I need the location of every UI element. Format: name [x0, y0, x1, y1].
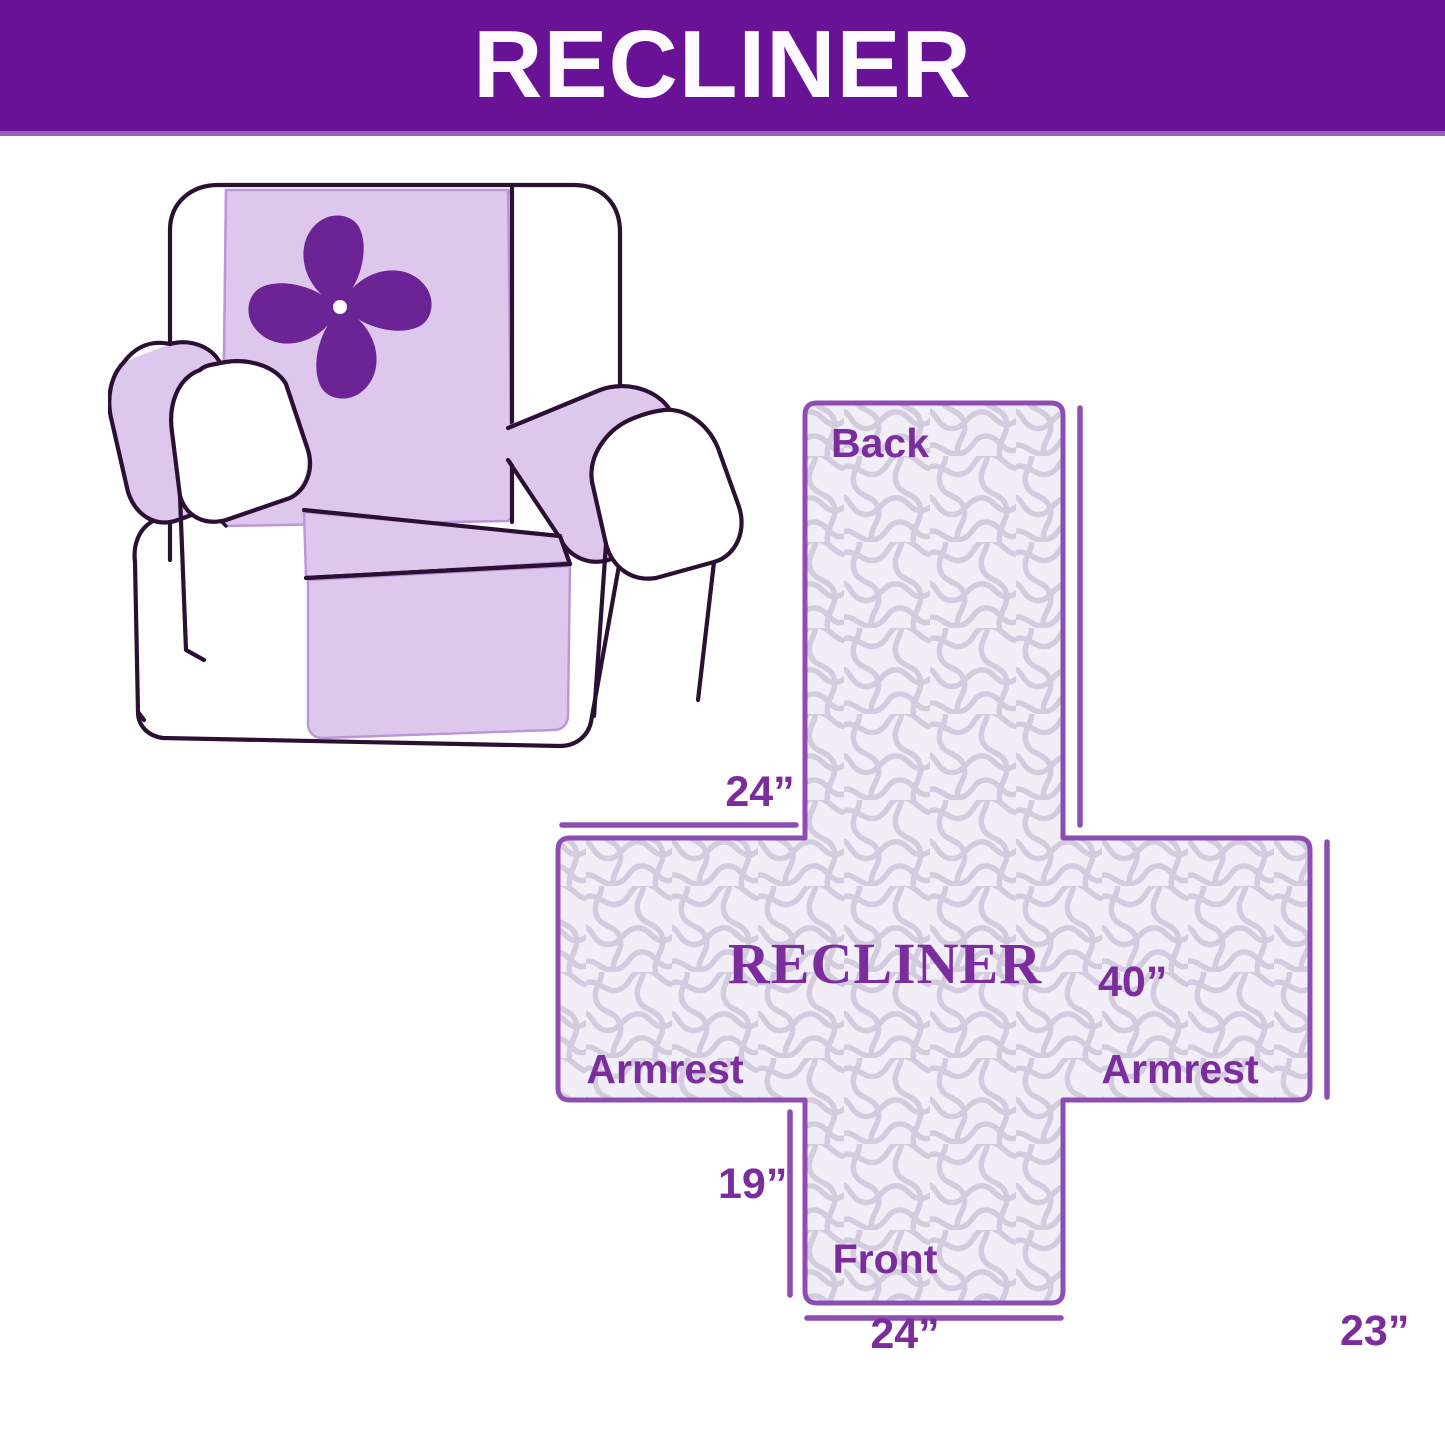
header-underline-divider [0, 131, 1445, 136]
diagram-center-label: RECLINER [700, 932, 1070, 996]
dimension-label-24-bottom: 24” [785, 1310, 1025, 1358]
cross-shape-outline [558, 403, 1310, 1303]
dimension-label-40: 40” [1098, 958, 1167, 1006]
dimension-label-24-top: 24” [640, 768, 880, 816]
dimension-label-23: 23” [1340, 1307, 1409, 1355]
product-dimension-infographic: RECLINER .ol { fill:none; stroke:#2b1033… [0, 0, 1445, 1445]
panel-label-back: Back [745, 420, 1015, 466]
panel-label-armrest-right: Armrest [1055, 1046, 1305, 1092]
panel-label-front: Front [750, 1236, 1020, 1282]
cover-flat-layout-diagram: Back Armrest Armrest Front RECLINER 40” … [500, 370, 1445, 1380]
dimension-label-19: 19” [718, 1160, 787, 1208]
page-title: RECLINER [0, 13, 1445, 117]
panel-label-armrest-left: Armrest [540, 1046, 790, 1092]
